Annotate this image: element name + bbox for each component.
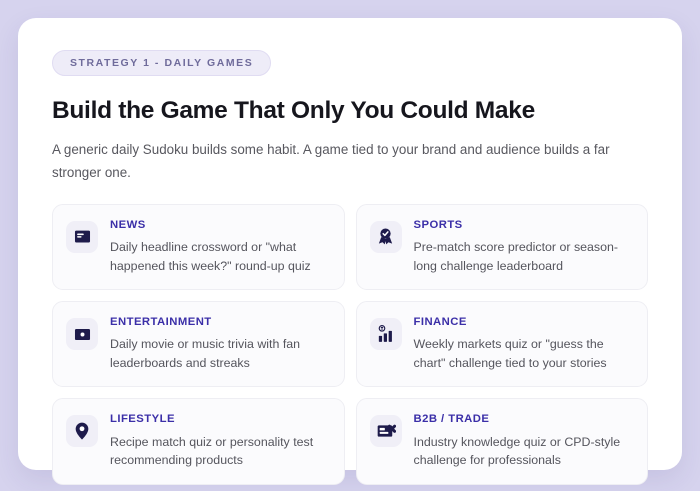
- category-label: FINANCE: [414, 317, 634, 328]
- category-body: LIFESTYLE Recipe match quiz or personali…: [110, 413, 330, 469]
- category-card-entertainment[interactable]: ENTERTAINMENT Daily movie or music trivi…: [52, 301, 345, 387]
- card-close-icon: [370, 415, 402, 447]
- category-body: B2B / TRADE Industry knowledge quiz or C…: [414, 413, 634, 469]
- category-label: NEWS: [110, 220, 330, 231]
- map-pin-icon: [66, 415, 98, 447]
- category-label: SPORTS: [414, 220, 634, 231]
- category-body: SPORTS Pre-match score predictor or seas…: [414, 219, 634, 275]
- category-description: Daily movie or music trivia with fan lea…: [110, 335, 330, 372]
- newspaper-icon: [66, 221, 98, 253]
- category-grid: NEWS Daily headline crossword or "what h…: [52, 204, 648, 485]
- page-subtitle: A generic daily Sudoku builds some habit…: [52, 138, 648, 184]
- category-description: Industry knowledge quiz or CPD-style cha…: [414, 433, 634, 470]
- strategy-badge: STRATEGY 1 - DAILY GAMES: [52, 50, 271, 76]
- slide-card: STRATEGY 1 - DAILY GAMES Build the Game …: [18, 18, 682, 470]
- category-card-finance[interactable]: FINANCE Weekly markets quiz or "guess th…: [356, 301, 649, 387]
- category-card-lifestyle[interactable]: LIFESTYLE Recipe match quiz or personali…: [52, 398, 345, 484]
- category-card-b2b-trade[interactable]: B2B / TRADE Industry knowledge quiz or C…: [356, 398, 649, 484]
- category-description: Weekly markets quiz or "guess the chart"…: [414, 335, 634, 372]
- category-description: Daily headline crossword or "what happen…: [110, 238, 330, 275]
- category-label: B2B / TRADE: [414, 414, 634, 425]
- page-title: Build the Game That Only You Could Make: [52, 97, 648, 125]
- category-label: ENTERTAINMENT: [110, 317, 330, 328]
- category-body: NEWS Daily headline crossword or "what h…: [110, 219, 330, 275]
- category-body: FINANCE Weekly markets quiz or "guess th…: [414, 316, 634, 372]
- category-body: ENTERTAINMENT Daily movie or music trivi…: [110, 316, 330, 372]
- award-ribbon-icon: [370, 221, 402, 253]
- category-label: LIFESTYLE: [110, 414, 330, 425]
- category-card-sports[interactable]: SPORTS Pre-match score predictor or seas…: [356, 204, 649, 290]
- category-card-news[interactable]: NEWS Daily headline crossword or "what h…: [52, 204, 345, 290]
- category-description: Recipe match quiz or personality test re…: [110, 433, 330, 470]
- bar-chart-dollar-icon: [370, 318, 402, 350]
- category-description: Pre-match score predictor or season-long…: [414, 238, 634, 275]
- camera-screen-icon: [66, 318, 98, 350]
